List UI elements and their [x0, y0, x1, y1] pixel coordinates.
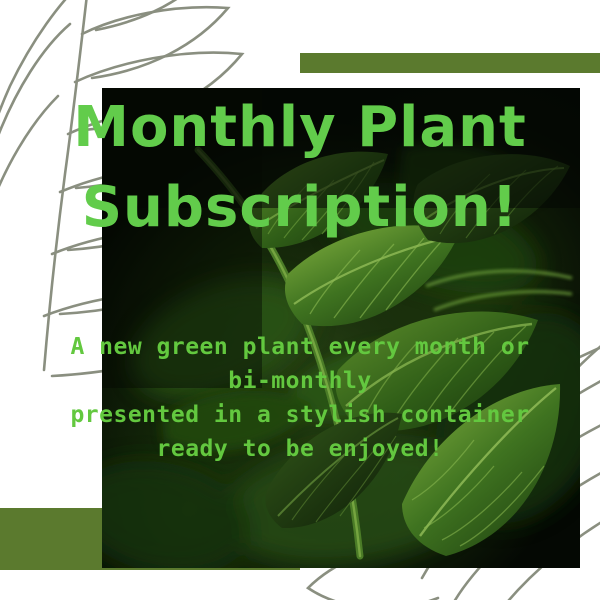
accent-bar-top — [300, 53, 600, 73]
plant-photo — [102, 88, 580, 568]
plant-photo-artwork — [102, 88, 580, 568]
poster-canvas: Monthly Plant Subscription! A new green … — [0, 0, 600, 600]
